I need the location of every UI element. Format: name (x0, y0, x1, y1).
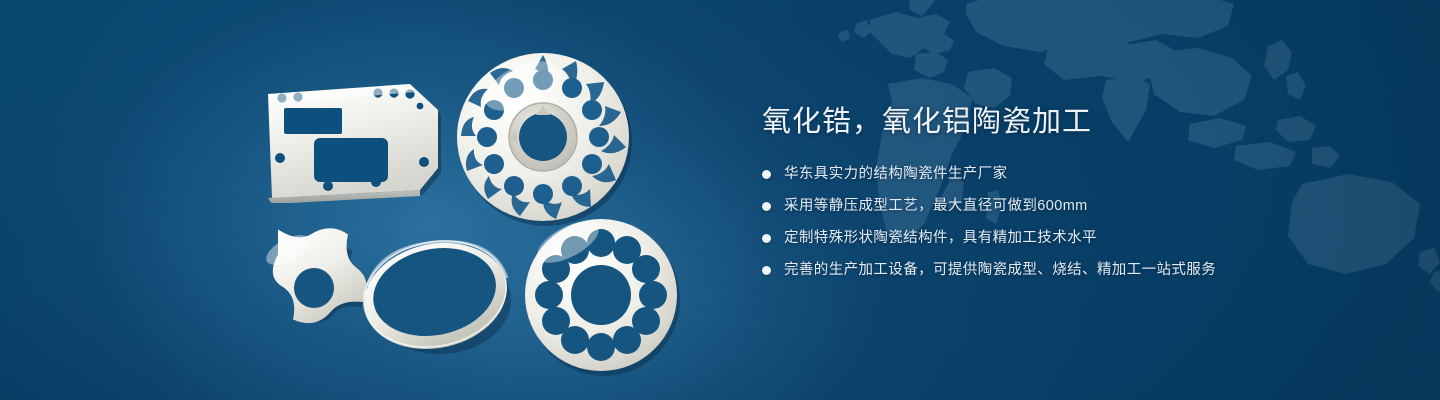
list-item-label: 完善的生产加工设备，可提供陶瓷成型、烧结、精加工一站式服务 (784, 263, 1216, 278)
ceramic-ring (345, 228, 525, 358)
list-item: 定制特殊形状陶瓷结构件，具有精加工技术水平 (762, 226, 1382, 250)
list-item-label: 采用等静压成型工艺，最大直径可做到600mm (784, 199, 1088, 214)
bullet-dot-icon (762, 170, 771, 179)
bullet-dot-icon (762, 234, 771, 243)
list-item-label: 华东具实力的结构陶瓷件生产厂家 (784, 167, 1008, 182)
list-item: 完善的生产加工设备，可提供陶瓷成型、烧结、精加工一站式服务 (762, 258, 1382, 282)
ceramic-perforated-disc (518, 212, 684, 378)
banner-copy: 氧化锆，氧化铝陶瓷加工 华东具实力的结构陶瓷件生产厂家 采用等静压成型工艺，最大… (762, 104, 1382, 290)
list-item-label: 定制特殊形状陶瓷结构件，具有精加工技术水平 (784, 231, 1097, 246)
ceramic-impeller-disc (450, 44, 636, 230)
ceramic-plate-with-cutouts (248, 58, 458, 203)
list-item: 采用等静压成型工艺，最大直径可做到600mm (762, 194, 1382, 218)
list-item: 华东具实力的结构陶瓷件生产厂家 (762, 162, 1382, 186)
promo-banner: 氧化锆，氧化铝陶瓷加工 华东具实力的结构陶瓷件生产厂家 采用等静压成型工艺，最大… (0, 0, 1440, 400)
feature-list: 华东具实力的结构陶瓷件生产厂家 采用等静压成型工艺，最大直径可做到600mm 定… (762, 162, 1382, 282)
page-title: 氧化锆，氧化铝陶瓷加工 (762, 104, 1382, 140)
bullet-dot-icon (762, 266, 771, 275)
bullet-dot-icon (762, 202, 771, 211)
product-photo-cluster (0, 0, 740, 400)
